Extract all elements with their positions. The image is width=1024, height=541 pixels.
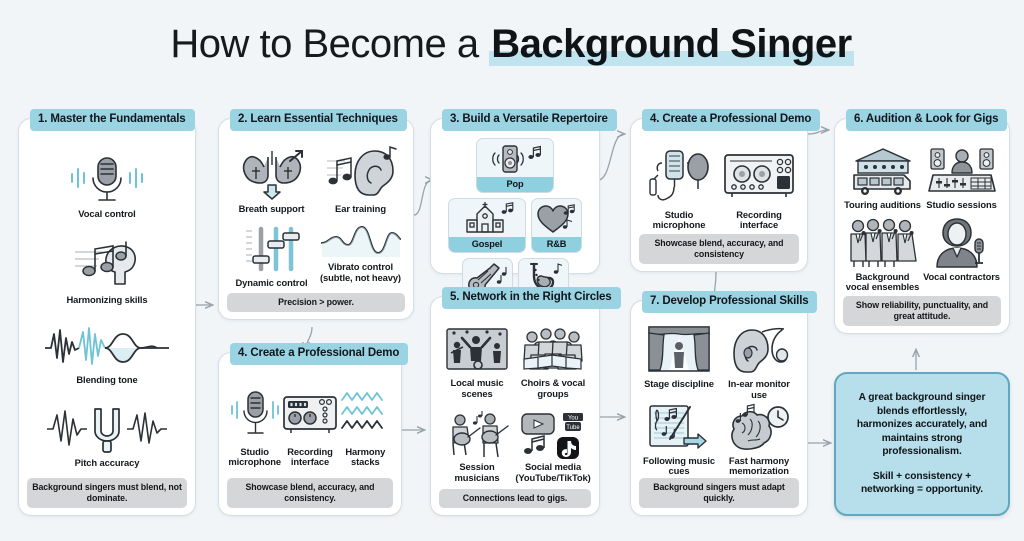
item-label: Local music scenes [440,378,514,399]
vocal-ensemble-icon [846,217,920,269]
panel-1[interactable]: 1. Master the Fundamentals [18,118,196,516]
item-studio-microphone[interactable]: Studio microphone [640,145,718,231]
item-in-ear-monitor[interactable]: In-ear monitor use [720,324,798,400]
conclusion-box: A great background singer blends effortl… [834,372,1010,516]
panel-6[interactable]: 6. Audition & Look for Gigs [834,118,1010,334]
panel-2[interactable]: 2. Learn Essential Techniques [218,118,414,320]
audio-interface-icon [281,386,339,444]
in-ear-monitor-icon [726,324,792,376]
panel-2-title: 2. Learn Essential Techniques [230,109,407,131]
item-label: Harmonizing skills [66,295,147,305]
item-label: Vocal contractors [923,272,1000,282]
item-harmonizing-skills[interactable]: Harmonizing skills [27,238,187,305]
item-label: Breath support [239,204,305,214]
panel-3[interactable]: 3. Build a Versatile Repertoire [430,118,600,274]
head-music-notes-icon [59,238,155,292]
infographic-canvas: How to Become a Background Singer [0,0,1024,541]
page-title-plain: How to Become a [170,22,489,66]
genre-card-gospel[interactable]: Gospel [448,198,526,253]
item-label: Background vocal ensembles [844,272,921,293]
conclusion-line-2: Skill + consistency + networking = oppor… [848,470,996,497]
item-studio-sessions[interactable]: Studio sessions [923,145,1000,210]
panel-7[interactable]: 7. Develop Professional Skills Stage dis… [630,300,808,516]
conclusion-line-1: A great background singer blends effortl… [848,391,996,459]
item-label: Following music cues [640,456,718,477]
heart-note-icon [536,203,578,235]
social-media-icon: You Tube [519,411,587,459]
item-recording-interface[interactable]: Recording interface [283,386,336,468]
svg-text:Tube: Tube [566,425,580,431]
panel-4-alt-title: 4. Create a Professional Demo [230,343,408,365]
stage-curtain-icon [646,324,712,376]
item-label: Choirs & vocal groups [516,378,590,399]
speaker-icon [487,142,543,176]
item-fast-harmony-memorization[interactable]: Fast harmony memorization [720,403,798,477]
lungs-icon [234,145,310,201]
church-icon [459,202,515,236]
panel-1-caption: Background singers must blend, not domin… [27,478,187,508]
microphone-waves-icon [59,150,155,206]
page-title-highlight: Background Singer [489,22,853,66]
item-social-media[interactable]: You Tube Social media (YouTube/TikTok) [516,411,590,483]
item-stage-discipline[interactable]: Stage discipline [640,324,718,400]
item-label: Dynamic control [236,278,308,288]
panel-4-title: 4. Create a Professional Demo [642,109,820,131]
panel-5-caption: Connections lead to gigs. [439,489,591,508]
item-label: Ear training [335,204,386,214]
item-recording-interface[interactable]: Recording interface [720,145,798,231]
item-label: Studio sessions [926,200,996,210]
item-label: Touring auditions [844,200,921,210]
item-vocal-control[interactable]: Vocal control [27,150,187,219]
item-label: Recording interface [720,210,798,231]
item-dynamic-control[interactable]: Dynamic control [228,223,315,288]
item-blending-tone[interactable]: Blending tone [27,324,187,385]
panel-4-caption: Showcase blend, accuracy, and consistenc… [639,234,799,264]
band-stage-icon [443,325,511,375]
panel-1-title: 1. Master the Fundamentals [30,109,195,131]
panel-2-caption: Precision > power. [227,293,405,312]
page-title: How to Become a Background Singer [0,22,1024,67]
item-label: Studio microphone [228,447,281,468]
item-label: Pitch accuracy [75,458,140,468]
genre-label: Pop [477,177,553,192]
item-label: Vibrato control (subtle, not heavy) [317,262,404,283]
panel-7-title: 7. Develop Professional Skills [642,291,817,313]
item-label: Vocal control [78,209,135,219]
item-vocal-contractors[interactable]: Vocal contractors [923,217,1000,293]
harmony-waves-icon [338,386,392,444]
waveform-blend-icon [43,324,171,372]
panel-6-caption: Show reliability, punctuality, and great… [843,296,1001,326]
item-ear-training[interactable]: Ear training [317,145,404,214]
genre-label: Gospel [449,237,525,252]
audio-interface-icon [720,145,798,207]
item-label: Studio microphone [640,210,718,231]
item-pitch-accuracy[interactable]: Pitch accuracy [27,403,187,468]
panel-4[interactable]: 4. Create a Professional Demo [630,118,808,272]
item-touring-auditions[interactable]: Touring auditions [844,145,921,210]
ear-notes-icon [323,145,399,201]
item-local-music-scenes[interactable]: Local music scenes [440,325,514,399]
panel-3-title: 3. Build a Versatile Repertoire [442,109,617,131]
sheet-music-baton-icon [646,403,712,453]
item-label: In-ear monitor use [720,379,798,400]
vibrato-wave-icon [320,223,402,259]
item-choirs-vocal-groups[interactable]: Choirs & vocal groups [516,325,590,399]
item-session-musicians[interactable]: Session musicians [440,411,514,483]
session-musicians-icon [442,411,512,459]
studio-mic-icon [640,145,718,207]
choir-icon [518,325,588,375]
item-label: Blending tone [76,375,137,385]
item-label: Fast harmony memorization [720,456,798,477]
panel-5[interactable]: 5. Network in the Right Circles [430,296,600,516]
item-following-music-cues[interactable]: Following music cues [640,403,718,477]
item-label: Social media (YouTube/TikTok) [515,462,590,483]
item-background-vocal-ensembles[interactable]: Background vocal ensembles [844,217,921,293]
panel-4-alt-caption: Showcase blend, accuracy, and consistenc… [227,478,393,508]
contractor-person-icon [931,217,993,269]
item-studio-microphone[interactable]: Studio microphone [228,386,281,468]
mixing-desk-icon [927,145,997,197]
genre-card-pop[interactable]: Pop [476,138,554,193]
panel-4-alt[interactable]: 4. Create a Professional Demo [218,352,402,516]
item-label: Harmony stacks [339,447,392,468]
svg-text:You: You [568,416,578,422]
panel-6-title: 6. Audition & Look for Gigs [846,109,1007,131]
microphone-waves-icon [228,386,282,444]
item-breath-support[interactable]: Breath support [228,145,315,214]
item-label: Stage discipline [644,379,714,389]
faders-icon [234,223,310,275]
item-label: Recording interface [283,447,336,468]
item-label: Session musicians [440,462,514,483]
brain-clock-icon [726,403,792,453]
genre-card-rnb[interactable]: R&B [531,198,582,253]
tuning-fork-icon [43,403,171,455]
panel-7-caption: Background singers must adapt quickly. [639,478,799,508]
item-vibrato-control[interactable]: Vibrato control (subtle, not heavy) [317,223,404,288]
panel-5-title: 5. Network in the Right Circles [442,287,621,309]
genre-label: R&B [532,237,581,252]
tour-bus-icon [848,145,918,197]
item-harmony-stacks[interactable]: Harmony stacks [339,386,392,468]
